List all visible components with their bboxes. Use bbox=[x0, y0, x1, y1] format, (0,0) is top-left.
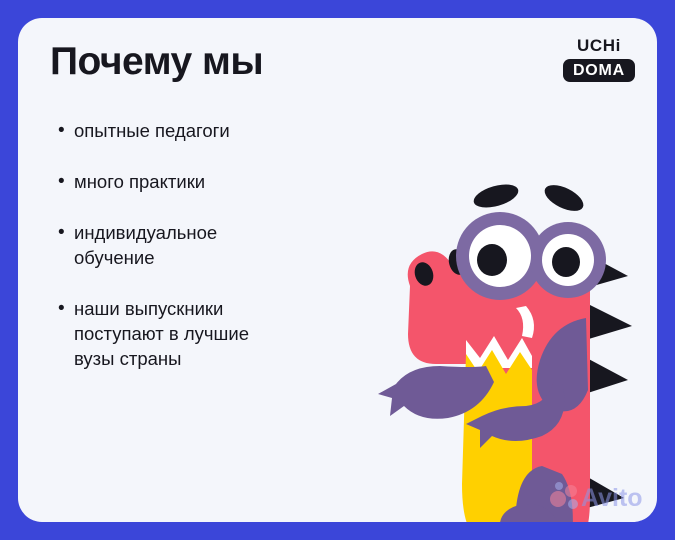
list-item-label: наши выпускники поступают в лучшие вузы … bbox=[74, 296, 249, 371]
bullet-marker-icon: • bbox=[58, 220, 74, 245]
content-card: Почему мы UCHi DOMA • опытные педагоги •… bbox=[18, 18, 657, 522]
dinosaur-mascot-illustration bbox=[376, 168, 657, 522]
dino-eyebrow-right bbox=[541, 180, 588, 216]
dino-pupil-left bbox=[477, 244, 507, 276]
slide-canvas: Почему мы UCHi DOMA • опытные педагоги •… bbox=[0, 0, 675, 540]
logo-badge-doma: DOMA bbox=[563, 59, 635, 82]
benefits-list: • опытные педагоги • много практики • ин… bbox=[58, 118, 348, 397]
list-item-label: много практики bbox=[74, 169, 205, 194]
list-item: • индивидуальное обучение bbox=[58, 220, 348, 270]
logo-text-uchi: UCHi bbox=[563, 36, 635, 56]
list-item: • опытные педагоги bbox=[58, 118, 348, 143]
list-item: • много практики bbox=[58, 169, 348, 194]
page-title: Почему мы bbox=[50, 40, 263, 84]
dino-pupil-right bbox=[552, 247, 580, 277]
list-item: • наши выпускники поступают в лучшие вуз… bbox=[58, 296, 348, 371]
bullet-marker-icon: • bbox=[58, 118, 74, 143]
list-item-label: опытные педагоги bbox=[74, 118, 230, 143]
bullet-marker-icon: • bbox=[58, 296, 74, 321]
list-item-label: индивидуальное обучение bbox=[74, 220, 217, 270]
bullet-marker-icon: • bbox=[58, 169, 74, 194]
dino-eyebrow-left bbox=[471, 180, 521, 212]
brand-logo: UCHi DOMA bbox=[563, 36, 635, 82]
